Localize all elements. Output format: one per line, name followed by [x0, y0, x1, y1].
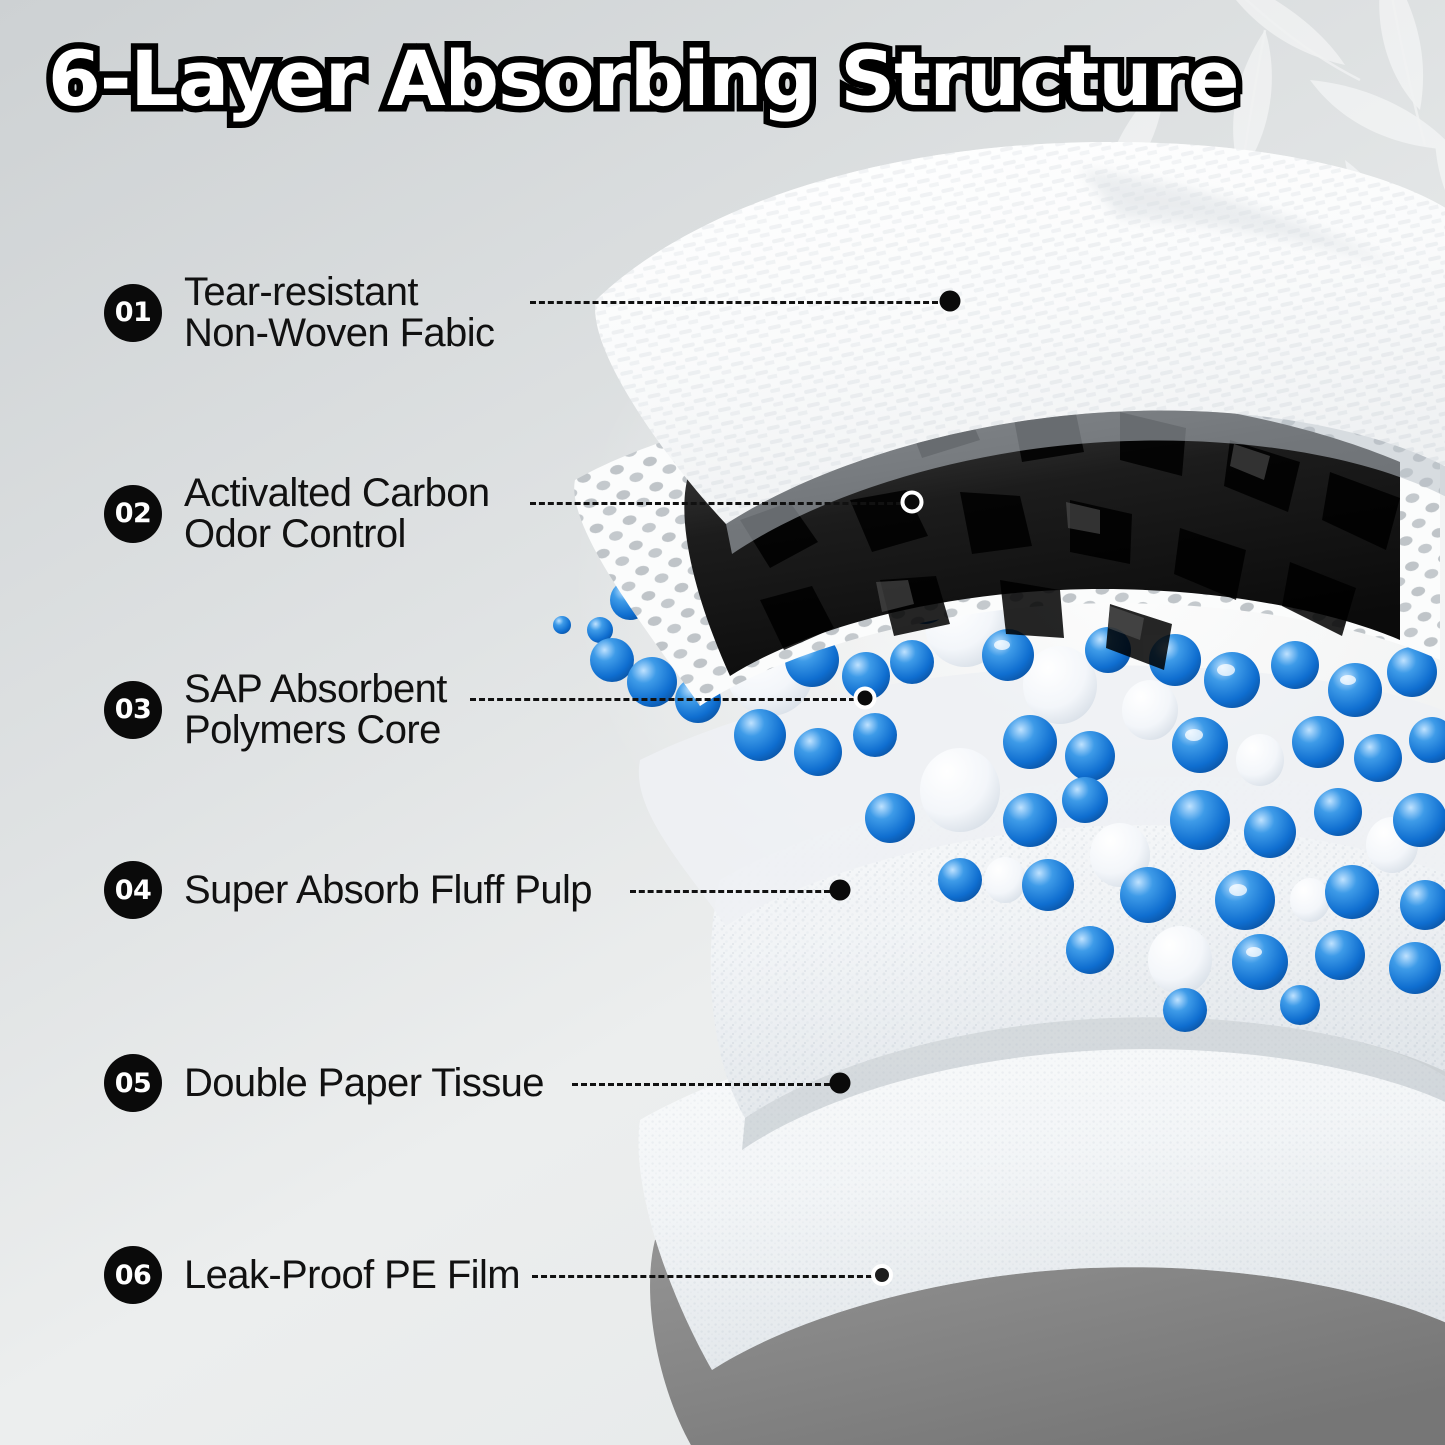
- leader-dot-06: [871, 1264, 893, 1286]
- page-title-text: 6-Layer Absorbing Structure: [48, 34, 1239, 123]
- callout-layer-06[interactable]: 06 Leak-Proof PE Film: [104, 1246, 520, 1304]
- leader-dot-03: [854, 687, 877, 710]
- layer-label-05-line1: Double Paper Tissue: [184, 1061, 544, 1105]
- layer-label-03: SAP Absorbent Polymers Core: [184, 669, 447, 751]
- leader-line-06: [532, 1275, 872, 1278]
- leader-line-02: [530, 502, 902, 505]
- leader-dot-02: [901, 491, 924, 514]
- layer-fluff-pulp: [711, 777, 1445, 1150]
- layer-label-01-line1: Tear-resistant: [184, 270, 418, 314]
- layer-activated-carbon: [574, 386, 1440, 706]
- callout-layer-01[interactable]: 01 Tear-resistant Non-Woven Fabic: [104, 272, 494, 354]
- layer-badge-06: 06: [104, 1246, 162, 1304]
- layer-sap-beads: [553, 563, 1445, 1032]
- leader-line-05: [572, 1083, 830, 1086]
- page-title: 6-Layer Absorbing Structure: [48, 34, 1239, 123]
- layer-label-04: Super Absorb Fluff Pulp: [184, 870, 592, 911]
- layer-badge-05: 05: [104, 1054, 162, 1112]
- layer-badge-01: 01: [104, 284, 162, 342]
- layer-label-02-line1: Activalted Carbon: [184, 471, 490, 515]
- callout-layer-03[interactable]: 03 SAP Absorbent Polymers Core: [104, 669, 447, 751]
- callout-layer-05[interactable]: 05 Double Paper Tissue: [104, 1054, 544, 1112]
- layer-label-04-line1: Super Absorb Fluff Pulp: [184, 868, 592, 912]
- layer-pe-film: [650, 1166, 1445, 1445]
- layer-label-02-line2: Odor Control: [184, 514, 490, 555]
- leader-line-03: [470, 698, 855, 701]
- layer-badge-02: 02: [104, 485, 162, 543]
- leader-line-01: [530, 301, 938, 304]
- infographic-canvas: 6-Layer Absorbing Structure 01 Tear-resi…: [0, 0, 1445, 1445]
- layer-label-01-line2: Non-Woven Fabic: [184, 313, 494, 354]
- layer-paper-tissue: [639, 1015, 1445, 1370]
- callout-layer-02[interactable]: 02 Activalted Carbon Odor Control: [104, 473, 490, 555]
- layer-badge-04: 04: [104, 861, 162, 919]
- callout-layer-04[interactable]: 04 Super Absorb Fluff Pulp: [104, 861, 592, 919]
- layer-label-05: Double Paper Tissue: [184, 1063, 544, 1104]
- leader-line-04: [630, 890, 830, 893]
- layer-label-06-line1: Leak-Proof PE Film: [184, 1253, 520, 1297]
- leader-dot-05: [830, 1073, 851, 1094]
- layer-label-06: Leak-Proof PE Film: [184, 1255, 520, 1296]
- layer-label-02: Activalted Carbon Odor Control: [184, 473, 490, 555]
- layer-label-03-line2: Polymers Core: [184, 710, 447, 751]
- leader-dot-01: [940, 291, 961, 312]
- layer-label-01: Tear-resistant Non-Woven Fabic: [184, 272, 494, 354]
- leader-dot-04: [830, 880, 851, 901]
- layer-label-03-line1: SAP Absorbent: [184, 667, 447, 711]
- layer-badge-03: 03: [104, 681, 162, 739]
- layer-non-woven-top: [595, 142, 1445, 554]
